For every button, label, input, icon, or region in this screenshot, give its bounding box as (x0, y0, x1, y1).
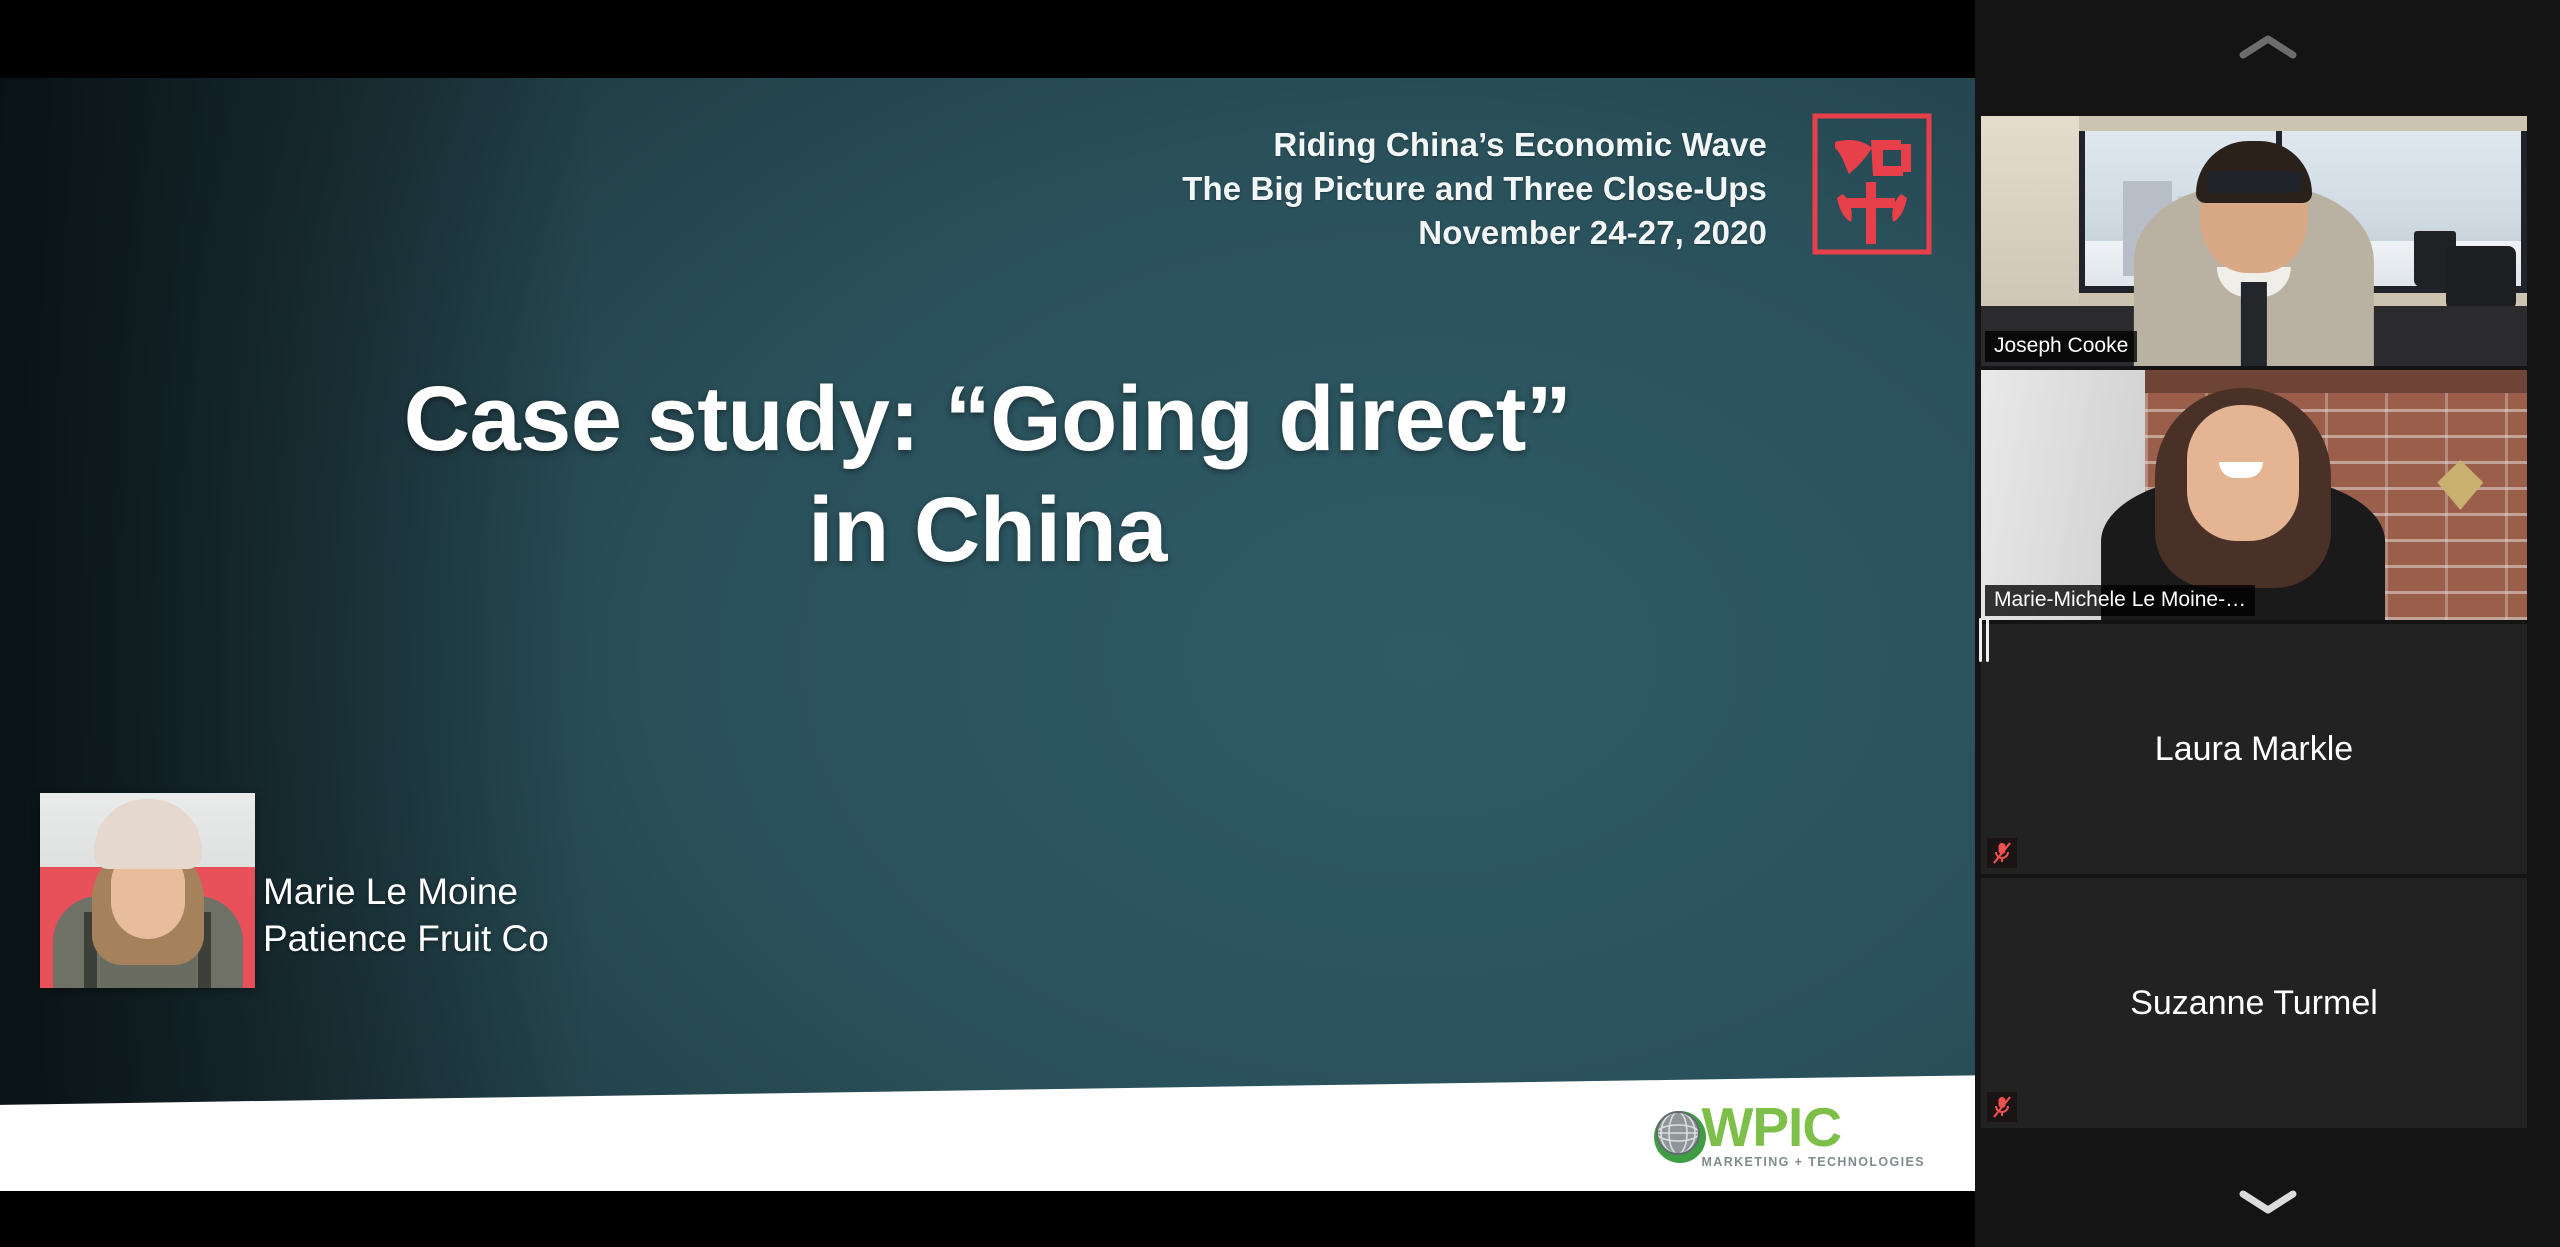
participant-filmstrip: Joseph Cooke Marie-Michele Le Moine-… La… (1975, 0, 2560, 1247)
participant-tile-marie-michele-le-moine[interactable]: Marie-Michele Le Moine-… (1981, 370, 2527, 620)
participant-tiles: Joseph Cooke Marie-Michele Le Moine-… La… (1981, 116, 2551, 1132)
video-feed (1981, 116, 2527, 366)
slide-header-line-3: November 24-27, 2020 (1182, 211, 1767, 255)
video-feed (1981, 370, 2527, 620)
participant-tile-suzanne-turmel[interactable]: Suzanne Turmel (1981, 878, 2527, 1128)
wpic-wordmark: WPIC (1701, 1103, 1841, 1153)
microphone-muted-icon (1987, 838, 2017, 868)
slide-title-line-2: in China (170, 479, 1805, 582)
participant-tile-laura-markle[interactable]: Laura Markle (1981, 624, 2527, 874)
slide-title-line-1: Case study: “Going direct” (170, 368, 1805, 471)
chevron-up-icon (2238, 34, 2298, 60)
slide-title: Case study: “Going direct” in China (0, 368, 1975, 582)
participant-name: Marie-Michele Le Moine-… (1985, 585, 2255, 616)
presenter-name: Marie Le Moine (263, 868, 549, 915)
participant-tile-joseph-cooke[interactable]: Joseph Cooke (1981, 116, 2527, 366)
slide-header-line-2: The Big Picture and Three Close-Ups (1182, 167, 1767, 211)
presenter-credit: Marie Le Moine Patience Fruit Co (263, 868, 549, 963)
chevron-down-icon (2238, 1189, 2298, 1215)
scroll-down-button[interactable] (2222, 1179, 2314, 1225)
participant-name: Suzanne Turmel (1981, 878, 2527, 1128)
slide-header-line-1: Riding China’s Economic Wave (1182, 123, 1767, 167)
panel-resize-handle[interactable] (1976, 616, 1992, 664)
microphone-muted-icon (1987, 1092, 2017, 1122)
chinese-seal-icon (1809, 110, 1935, 258)
meeting-screen-share-view: Riding China’s Economic Wave The Big Pic… (0, 0, 2560, 1247)
shared-screen-stage[interactable]: Riding China’s Economic Wave The Big Pic… (0, 0, 1975, 1247)
wpic-tagline: MARKETING + TECHNOLOGIES (1701, 1155, 1925, 1169)
participant-name: Joseph Cooke (1985, 331, 2137, 362)
participant-name: Laura Markle (1981, 624, 2527, 874)
presentation-slide: Riding China’s Economic Wave The Big Pic… (0, 78, 1975, 1191)
slide-header: Riding China’s Economic Wave The Big Pic… (1182, 123, 1767, 255)
presenter-photo (40, 793, 255, 988)
presenter-company: Patience Fruit Co (263, 915, 549, 962)
wpic-logo: WPIC MARKETING + TECHNOLOGIES (1650, 1101, 1925, 1170)
scroll-up-button[interactable] (2222, 24, 2314, 70)
